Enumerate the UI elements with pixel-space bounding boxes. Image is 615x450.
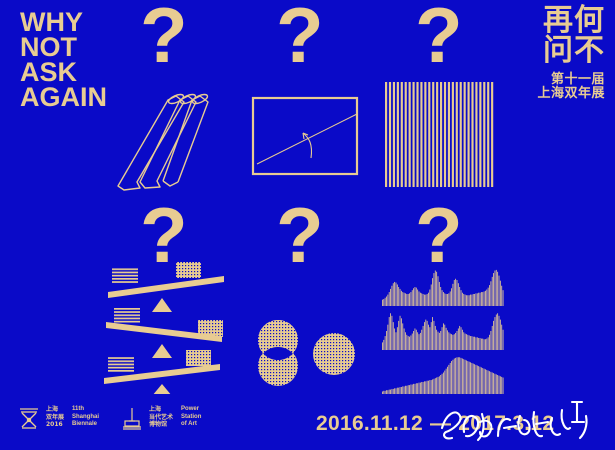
biennale-en-line-1: 11th bbox=[72, 406, 99, 414]
panel-three-prisms-isometric bbox=[110, 78, 215, 198]
logo-biennale: 上海 双年展 2016 11th Shanghai Biennale bbox=[18, 406, 99, 435]
panel-three-histogram-waveforms bbox=[382, 268, 504, 399]
chinese-subtitle-line-1: 第十一届 bbox=[495, 73, 605, 87]
date-start: 2016.11.12 bbox=[316, 412, 423, 435]
headline-block: WHY NOT ASK AGAIN bbox=[20, 10, 107, 110]
panel-three-seesaw-balances bbox=[98, 262, 228, 399]
question-mark-icon-6: ? bbox=[415, 196, 463, 274]
question-mark-icon-5: ? bbox=[276, 196, 324, 274]
biennale-mark-icon bbox=[18, 406, 40, 435]
psa-en-line-3: of Art bbox=[181, 421, 201, 429]
biennale-en-column: 11th Shanghai Biennale bbox=[72, 406, 99, 429]
question-mark-icon-3: ? bbox=[415, 0, 463, 74]
rectangle-arrow-svg bbox=[251, 96, 359, 178]
prisms-svg bbox=[110, 78, 215, 193]
question-mark-icon-1: ? bbox=[140, 0, 188, 74]
charts-svg bbox=[382, 268, 504, 394]
biennale-cn-column: 上海 双年展 2016 bbox=[46, 406, 64, 429]
psa-en-line-2: Station bbox=[181, 414, 201, 422]
psa-cn-column: 上海 当代艺术 博物馆 bbox=[149, 406, 173, 429]
psa-cn-line-3: 博物馆 bbox=[149, 421, 173, 429]
psa-en-column: Power Station of Art bbox=[181, 406, 201, 429]
waveform-chart-bottom bbox=[382, 357, 503, 394]
waveform-chart-top bbox=[382, 270, 503, 306]
exhibition-dates: 2016.11.12—2017.3.12 bbox=[316, 412, 554, 436]
credits-row: 上海 双年展 2016 11th Shanghai Biennale bbox=[18, 406, 201, 435]
psa-cn-line-2: 当代艺术 bbox=[149, 414, 173, 422]
chinese-title-row-1: 再何 bbox=[507, 6, 605, 36]
psa-logo-text: 上海 当代艺术 博物馆 Power Station of Art bbox=[149, 406, 201, 429]
date-separator: — bbox=[423, 412, 458, 435]
psa-chimney-icon bbox=[121, 406, 143, 435]
logo-power-station-of-art: 上海 当代艺术 博物馆 Power Station of Art bbox=[121, 406, 201, 435]
chinese-subtitle-line-2: 上海双年展 bbox=[495, 87, 605, 101]
chinese-subtitle-block: 第十一届 上海双年展 bbox=[495, 73, 605, 101]
headline-line-4: AGAIN bbox=[20, 85, 107, 110]
panel-overlapping-circles bbox=[252, 318, 357, 395]
chinese-title-row-2: 问不 bbox=[507, 36, 605, 66]
stripes-svg bbox=[385, 82, 495, 187]
question-mark-icon-2: ? bbox=[276, 0, 324, 74]
biennale-cn-line-3: 2016 bbox=[46, 421, 64, 429]
date-end: 2017.3.12 bbox=[458, 412, 554, 435]
circles-svg bbox=[252, 318, 357, 390]
psa-en-line-1: Power bbox=[181, 406, 201, 414]
biennale-en-line-3: Biennale bbox=[72, 421, 99, 429]
waveform-chart-middle bbox=[382, 313, 503, 350]
biennale-cn-line-1: 上海 bbox=[46, 406, 64, 414]
panel-rectangle-diagonal-arrow bbox=[251, 96, 359, 183]
biennale-cn-line-2: 双年展 bbox=[46, 414, 64, 422]
chinese-title-block: 再何 问不 bbox=[507, 6, 605, 66]
biennale-en-line-2: Shanghai bbox=[72, 414, 99, 422]
panel-vertical-stripes-moire bbox=[385, 82, 495, 192]
biennale-logo-text: 上海 双年展 2016 11th Shanghai Biennale bbox=[46, 406, 99, 429]
balances-svg bbox=[98, 262, 228, 394]
poster-canvas: WHY NOT ASK AGAIN 再何 问不 第十一届 上海双年展 11th … bbox=[0, 0, 615, 450]
psa-cn-line-1: 上海 bbox=[149, 406, 173, 414]
